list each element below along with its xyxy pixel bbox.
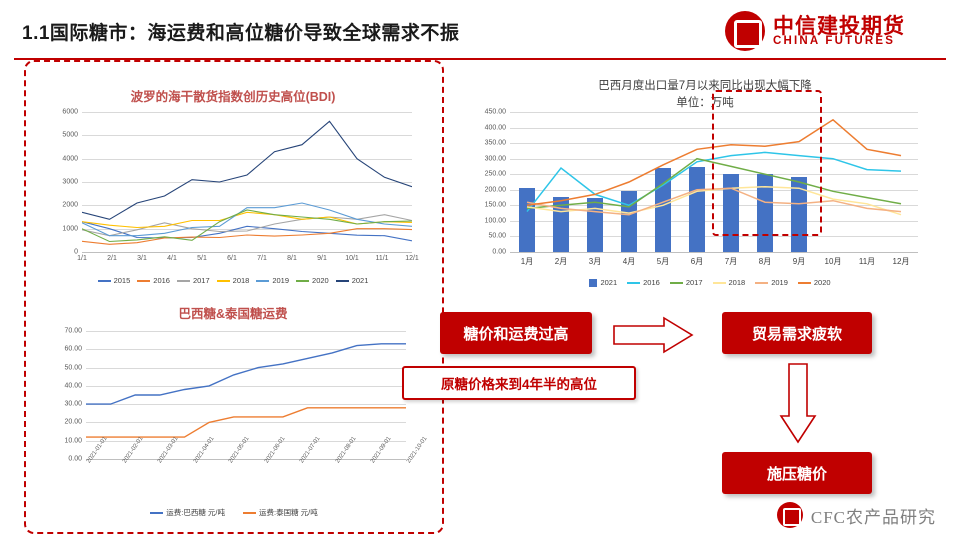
legend-item: 2016 xyxy=(137,276,170,285)
x-axis-tick-label: 10月 xyxy=(825,256,842,267)
legend-label: 2017 xyxy=(193,276,210,285)
arrow-right-icon xyxy=(612,316,696,354)
chart-brazil-export-title-main: 巴西月度出口量7月以来同比出现大幅下降 xyxy=(470,78,940,95)
y-axis-tick-label: 350.00 xyxy=(485,140,506,147)
chart-freight-title: 巴西糖&泰国糖运费 xyxy=(34,305,432,323)
x-axis-tick-label: 12月 xyxy=(893,256,910,267)
legend-item: 2017 xyxy=(670,278,703,287)
chart-freight-legend: 运费:巴西糖 元/吨运费:泰国糖 元/吨 xyxy=(74,507,394,518)
y-axis-tick-label: 400.00 xyxy=(485,124,506,131)
legend-item: 2019 xyxy=(755,278,788,287)
legend-label: 2020 xyxy=(814,278,831,287)
x-axis-tick-label: 2/1 xyxy=(107,255,117,262)
callout-price-freight: 糖价和运费过高 xyxy=(440,312,592,354)
legend-swatch xyxy=(670,282,683,284)
x-axis-tick-label: 5月 xyxy=(657,256,669,267)
x-axis-tick-label: 8/1 xyxy=(287,255,297,262)
logo-text-en: CHINA FUTURES xyxy=(773,35,895,47)
x-axis-tick-label: 1月 xyxy=(521,256,533,267)
legend-label: 2017 xyxy=(686,278,703,287)
x-axis-tick-label: 7/1 xyxy=(257,255,267,262)
legend-label: 2021 xyxy=(600,278,617,287)
x-axis-tick-label: 2月 xyxy=(555,256,567,267)
legend-item: 2019 xyxy=(256,276,289,285)
y-axis-tick-label: 3000 xyxy=(62,179,78,186)
x-axis-tick-label: 9/1 xyxy=(317,255,327,262)
x-axis-tick-label: 4/1 xyxy=(167,255,177,262)
legend-item: 2018 xyxy=(713,278,746,287)
chart-brazil-export-subtitle: 单位：万吨 xyxy=(470,95,940,112)
legend-swatch xyxy=(150,512,163,514)
x-axis-tick-label: 10/1 xyxy=(345,255,359,262)
legend-label: 2018 xyxy=(729,278,746,287)
cfc-circle-logo-icon xyxy=(725,11,765,51)
x-axis-tick-label: 5/1 xyxy=(197,255,207,262)
x-axis-tick-label: 3/1 xyxy=(137,255,147,262)
x-axis-tick-label: 7月 xyxy=(725,256,737,267)
legend-label: 2021 xyxy=(352,276,369,285)
x-axis-line xyxy=(510,252,918,253)
legend-label: 2020 xyxy=(312,276,329,285)
legend-label: 2016 xyxy=(643,278,660,287)
y-axis-tick-label: 0.00 xyxy=(68,456,82,463)
legend-swatch xyxy=(243,512,256,514)
y-axis-tick-label: 150.00 xyxy=(485,202,506,209)
legend-item: 运费:巴西糖 元/吨 xyxy=(150,507,225,518)
company-logo: 中信建投期货 CHINA FUTURES xyxy=(725,8,940,54)
y-axis-tick-label: 6000 xyxy=(62,109,78,116)
legend-label: 2019 xyxy=(272,276,289,285)
y-axis-tick-label: 70.00 xyxy=(64,328,82,335)
y-axis-tick-label: 200.00 xyxy=(485,186,506,193)
legend-label: 2015 xyxy=(114,276,131,285)
legend-item: 2016 xyxy=(627,278,660,287)
export-highlight-box xyxy=(712,90,822,236)
series-layer xyxy=(82,112,412,252)
x-axis-line xyxy=(82,252,412,253)
cfc-circle-logo-small-icon xyxy=(777,502,803,528)
chart-brazil-export-legend: 202120162017201820192020 xyxy=(500,278,920,287)
arrow-down-icon xyxy=(778,362,818,446)
series-line xyxy=(86,344,406,404)
legend-swatch xyxy=(98,280,111,282)
x-axis-line xyxy=(86,459,406,460)
legend-item: 2021 xyxy=(336,276,369,285)
legend-swatch xyxy=(589,279,597,287)
legend-item: 2018 xyxy=(217,276,250,285)
legend-swatch xyxy=(137,280,150,282)
legend-swatch xyxy=(296,280,309,282)
y-axis-tick-label: 40.00 xyxy=(64,382,82,389)
x-axis-tick-label: 2021-10-01 xyxy=(406,436,429,465)
chart-freight: 巴西糖&泰国糖运费 0.0010.0020.0030.0040.0050.006… xyxy=(34,305,432,527)
y-axis-tick-label: 60.00 xyxy=(64,346,82,353)
series-line xyxy=(86,408,406,437)
x-axis-tick-label: 12/1 xyxy=(405,255,419,262)
x-axis-tick-label: 8月 xyxy=(759,256,771,267)
y-axis-tick-label: 50.00 xyxy=(488,233,506,240)
y-axis-tick-label: 250.00 xyxy=(485,171,506,178)
chart-brazil-export-title: 巴西月度出口量7月以来同比出现大幅下降 单位：万吨 xyxy=(470,78,940,113)
chart-bdi-title: 波罗的海干散货指数创历史高位(BDI) xyxy=(34,88,432,106)
legend-swatch xyxy=(256,280,269,282)
legend-item: 2020 xyxy=(798,278,831,287)
footer-brand-text: CFC农产品研究 xyxy=(811,503,936,528)
y-axis-tick-label: 10.00 xyxy=(64,437,82,444)
legend-item: 2017 xyxy=(177,276,210,285)
callout-pressure-sugar-price: 施压糖价 xyxy=(722,452,872,494)
x-axis-tick-label: 6月 xyxy=(691,256,703,267)
chart-bdi: 波罗的海干散货指数创历史高位(BDI) 01000200030004000500… xyxy=(34,88,432,300)
y-axis-tick-label: 30.00 xyxy=(64,401,82,408)
slide-header: 1.1国际糖市：海运费和高位糖价导致全球需求不振 中信建投期货 CHINA FU… xyxy=(0,0,960,60)
legend-item: 运费:泰国糖 元/吨 xyxy=(243,507,318,518)
chart-freight-plot: 0.0010.0020.0030.0040.0050.0060.0070.002… xyxy=(86,331,406,459)
y-axis-tick-label: 2000 xyxy=(62,202,78,209)
y-axis-tick-label: 5000 xyxy=(62,132,78,139)
legend-item: 2015 xyxy=(98,276,131,285)
x-axis-tick-label: 3月 xyxy=(589,256,601,267)
x-axis-tick-label: 1/1 xyxy=(77,255,87,262)
legend-swatch xyxy=(217,280,230,282)
legend-label: 运费:巴西糖 元/吨 xyxy=(166,507,225,518)
callout-raw-sugar-price: 原糖价格来到4年半的高位 xyxy=(402,366,636,400)
x-axis-tick-label: 11/1 xyxy=(375,255,388,262)
legend-swatch xyxy=(755,282,768,284)
legend-label: 2016 xyxy=(153,276,170,285)
chart-brazil-export-plot: 0.0050.00100.00150.00200.00250.00300.003… xyxy=(510,112,918,252)
page-title: 1.1国际糖市：海运费和高位糖价导致全球需求不振 xyxy=(22,18,459,45)
legend-swatch xyxy=(177,280,190,282)
legend-item: 2021 xyxy=(589,278,617,287)
y-axis-tick-label: 4000 xyxy=(62,155,78,162)
y-axis-tick-label: 50.00 xyxy=(64,364,82,371)
legend-label: 运费:泰国糖 元/吨 xyxy=(259,507,318,518)
callout-trade-demand: 贸易需求疲软 xyxy=(722,312,872,354)
series-line xyxy=(82,215,412,236)
y-axis-tick-label: 0.00 xyxy=(492,249,506,256)
legend-label: 2018 xyxy=(233,276,250,285)
legend-swatch xyxy=(713,282,726,284)
x-axis-tick-label: 11月 xyxy=(859,256,875,267)
y-axis-tick-label: 1000 xyxy=(62,225,78,232)
legend-swatch xyxy=(336,280,349,282)
legend-item: 2020 xyxy=(296,276,329,285)
y-axis-tick-label: 300.00 xyxy=(485,155,506,162)
chart-bdi-legend: 2015201620172018201920202021 xyxy=(54,276,412,285)
y-axis-tick-label: 20.00 xyxy=(64,419,82,426)
chart-bdi-plot: 01000200030004000500060001/12/13/14/15/1… xyxy=(82,112,412,252)
legend-swatch xyxy=(798,282,811,284)
slide-page: 1.1国际糖市：海运费和高位糖价导致全球需求不振 中信建投期货 CHINA FU… xyxy=(0,0,960,540)
x-axis-tick-label: 4月 xyxy=(623,256,635,267)
y-axis-tick-label: 450.00 xyxy=(485,109,506,116)
series-line xyxy=(82,121,412,219)
chart-brazil-export: 巴西月度出口量7月以来同比出现大幅下降 单位：万吨 0.0050.00100.0… xyxy=(470,78,940,298)
legend-swatch xyxy=(627,282,640,284)
x-axis-tick-label: 6/1 xyxy=(227,255,237,262)
x-axis-tick-label: 9月 xyxy=(793,256,805,267)
y-axis-tick-label: 100.00 xyxy=(485,217,506,224)
legend-label: 2019 xyxy=(771,278,788,287)
footer-brand: CFC农产品研究 xyxy=(777,502,936,528)
